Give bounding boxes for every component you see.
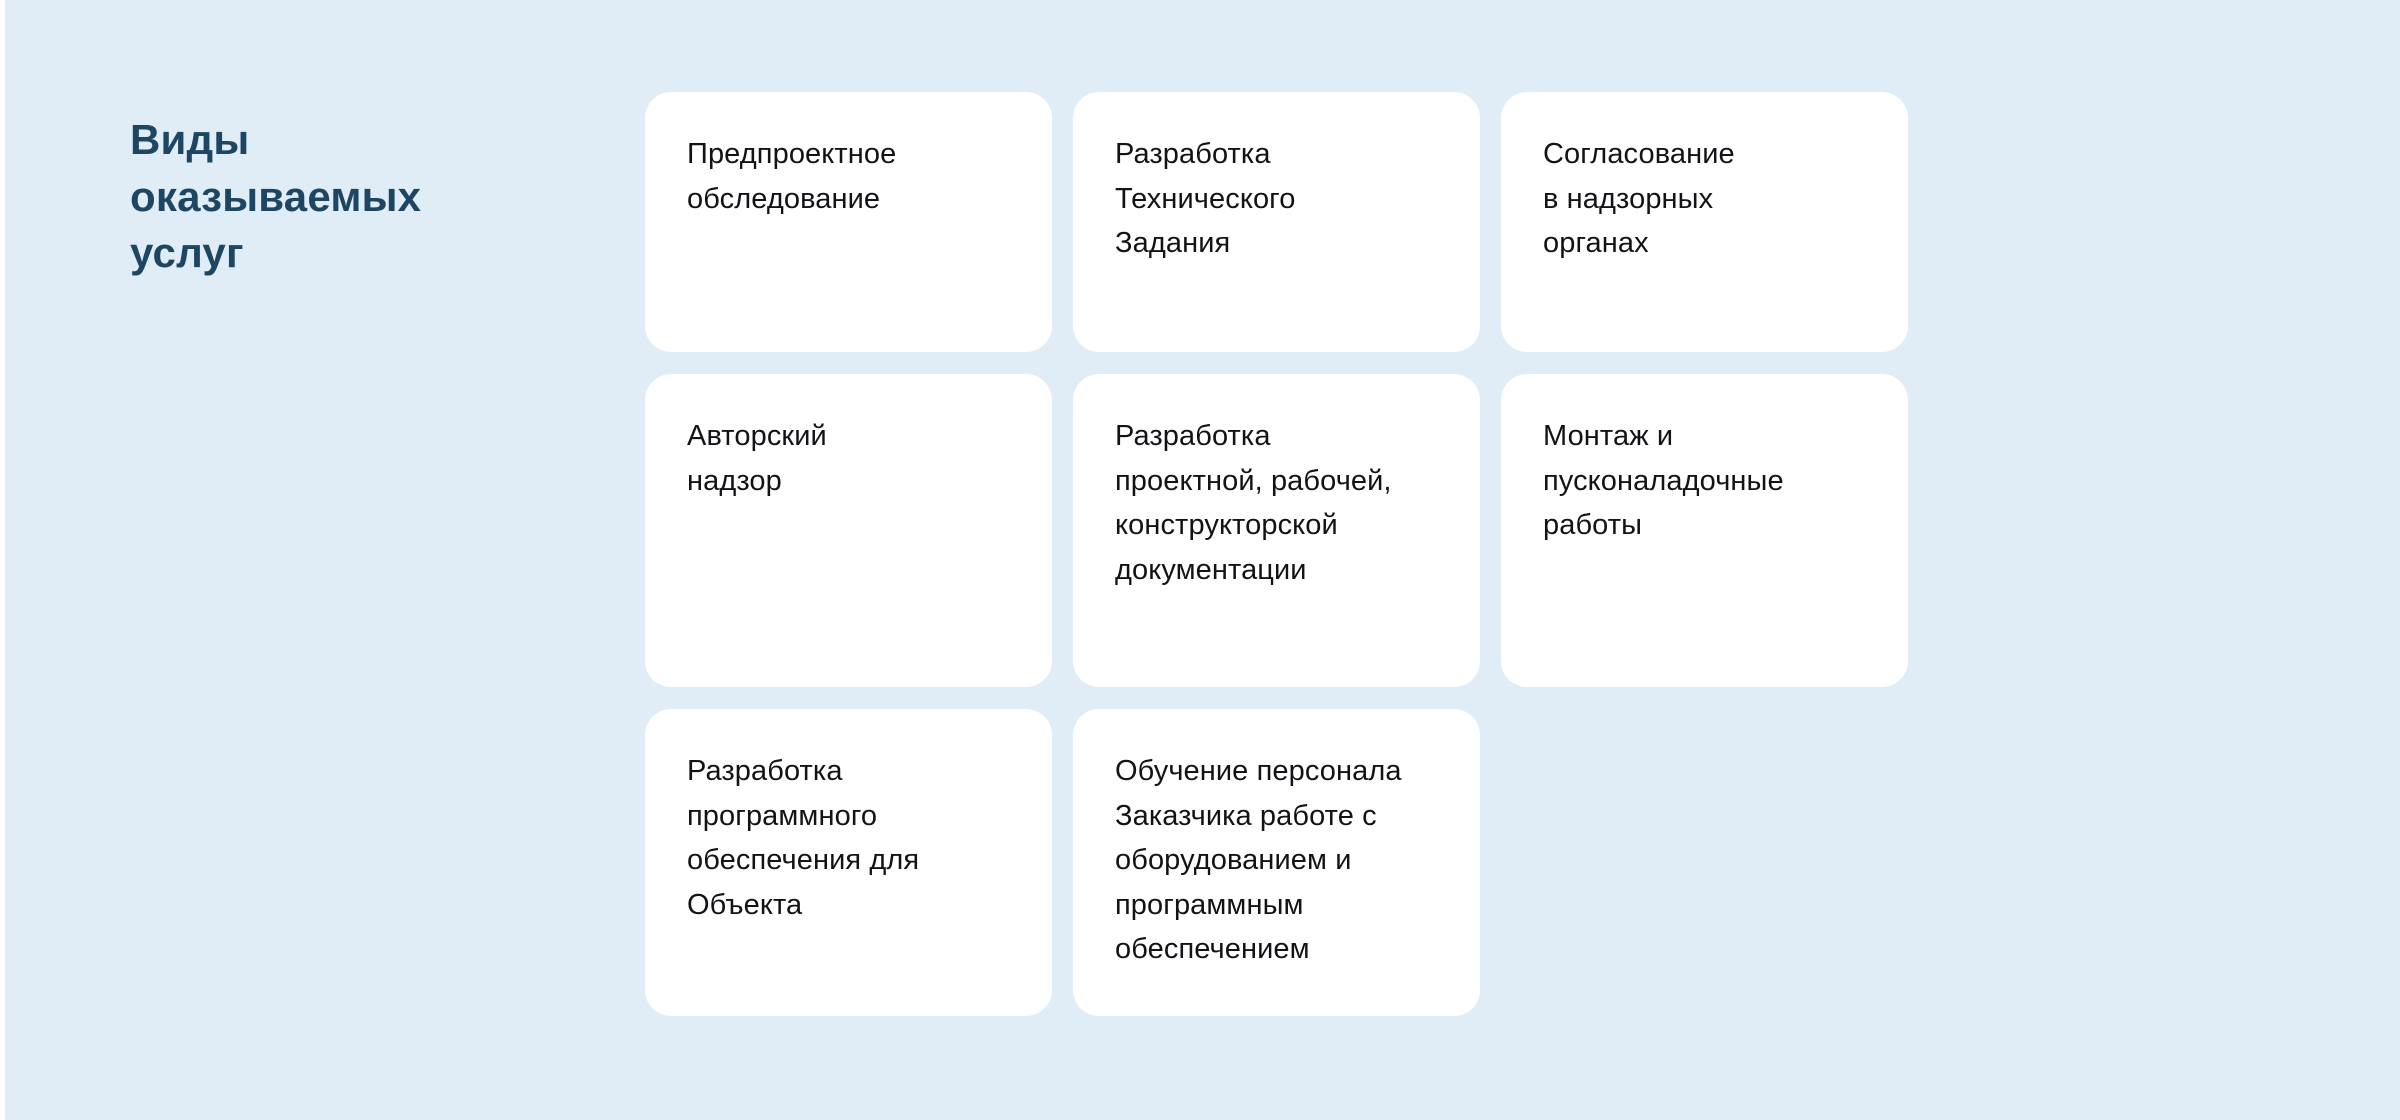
service-card-label: Согласование в надзорных органах	[1543, 132, 1866, 266]
services-card-grid: Предпроектное обследование Разработка Те…	[645, 92, 1903, 1016]
service-card-razrabotka-tehnicheskogo-zadaniya[interactable]: Разработка Технического Задания	[1073, 92, 1480, 352]
service-card-razrabotka-dokumentacii[interactable]: Разработка проектной, рабочей, конструкт…	[1073, 374, 1480, 687]
page-title: Виды оказываемых услуг	[130, 112, 550, 282]
service-card-label: Авторский надзор	[687, 414, 1010, 503]
service-card-label: Разработка программного обеспечения для …	[687, 749, 1010, 927]
service-card-label: Обучение персонала Заказчика работе с об…	[1115, 749, 1438, 972]
service-card-obuchenie-personala-zakazchika[interactable]: Обучение персонала Заказчика работе с об…	[1073, 709, 1480, 1016]
service-card-avtorskiy-nadzor[interactable]: Авторский надзор	[645, 374, 1052, 687]
service-card-label: Предпроектное обследование	[687, 132, 1010, 221]
service-card-soglasovanie-v-nadzornyh-organah[interactable]: Согласование в надзорных органах	[1501, 92, 1908, 352]
service-card-label: Разработка проектной, рабочей, конструкт…	[1115, 414, 1438, 592]
service-card-montazh-i-puskonaladochnye-raboty[interactable]: Монтаж и пусконаладочные работы	[1501, 374, 1908, 687]
service-card-razrabotka-po-dlya-obekta[interactable]: Разработка программного обеспечения для …	[645, 709, 1052, 1016]
grid-empty-cell	[1501, 709, 1908, 1016]
service-card-predproektnoe-obsledovanie[interactable]: Предпроектное обследование	[645, 92, 1052, 352]
service-card-label: Разработка Технического Задания	[1115, 132, 1438, 266]
service-card-label: Монтаж и пусконаладочные работы	[1543, 414, 1866, 548]
slide-canvas: Виды оказываемых услуг Предпроектное обс…	[5, 0, 2400, 1120]
